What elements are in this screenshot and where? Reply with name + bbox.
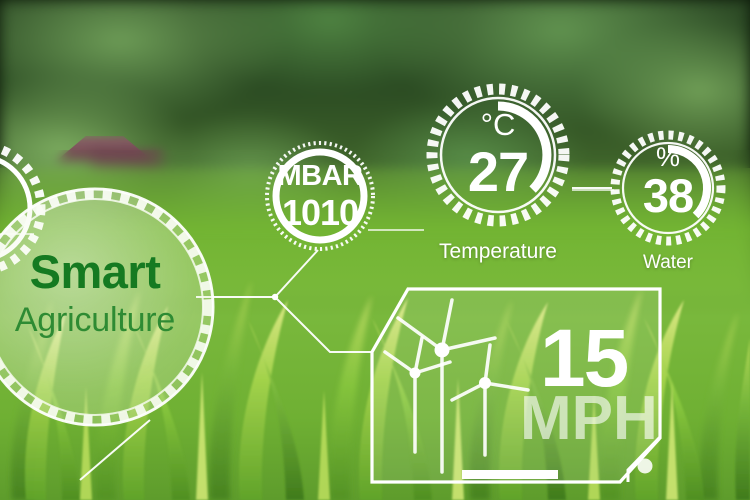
brand-title: Smart — [0, 248, 230, 295]
wind-speed-unit: MPH — [520, 388, 658, 450]
temperature-value: 27 — [424, 139, 572, 204]
brand-subtitle: Agriculture — [0, 303, 230, 337]
pressure-unit-label: MBAR — [264, 160, 376, 193]
pressure-gauge[interactable]: MBAR 1010 — [264, 140, 376, 252]
hud-overlay: Smart Agriculture MBAR 1010 °C 27 Temp — [0, 0, 750, 500]
brand-text-group: Smart Agriculture — [0, 172, 230, 337]
temperature-unit-label: °C — [424, 107, 572, 143]
temperature-gauge[interactable]: °C 27 — [424, 81, 572, 229]
smart-agriculture-infographic: Smart Agriculture MBAR 1010 °C 27 Temp — [0, 0, 750, 500]
water-value: 38 — [610, 168, 726, 223]
temperature-caption: Temperature — [398, 240, 598, 264]
brand-badge: Smart Agriculture — [0, 172, 230, 442]
water-gauge[interactable]: % 38 — [610, 130, 726, 246]
pressure-value: 1010 — [264, 192, 376, 234]
water-caption: Water — [608, 252, 728, 274]
